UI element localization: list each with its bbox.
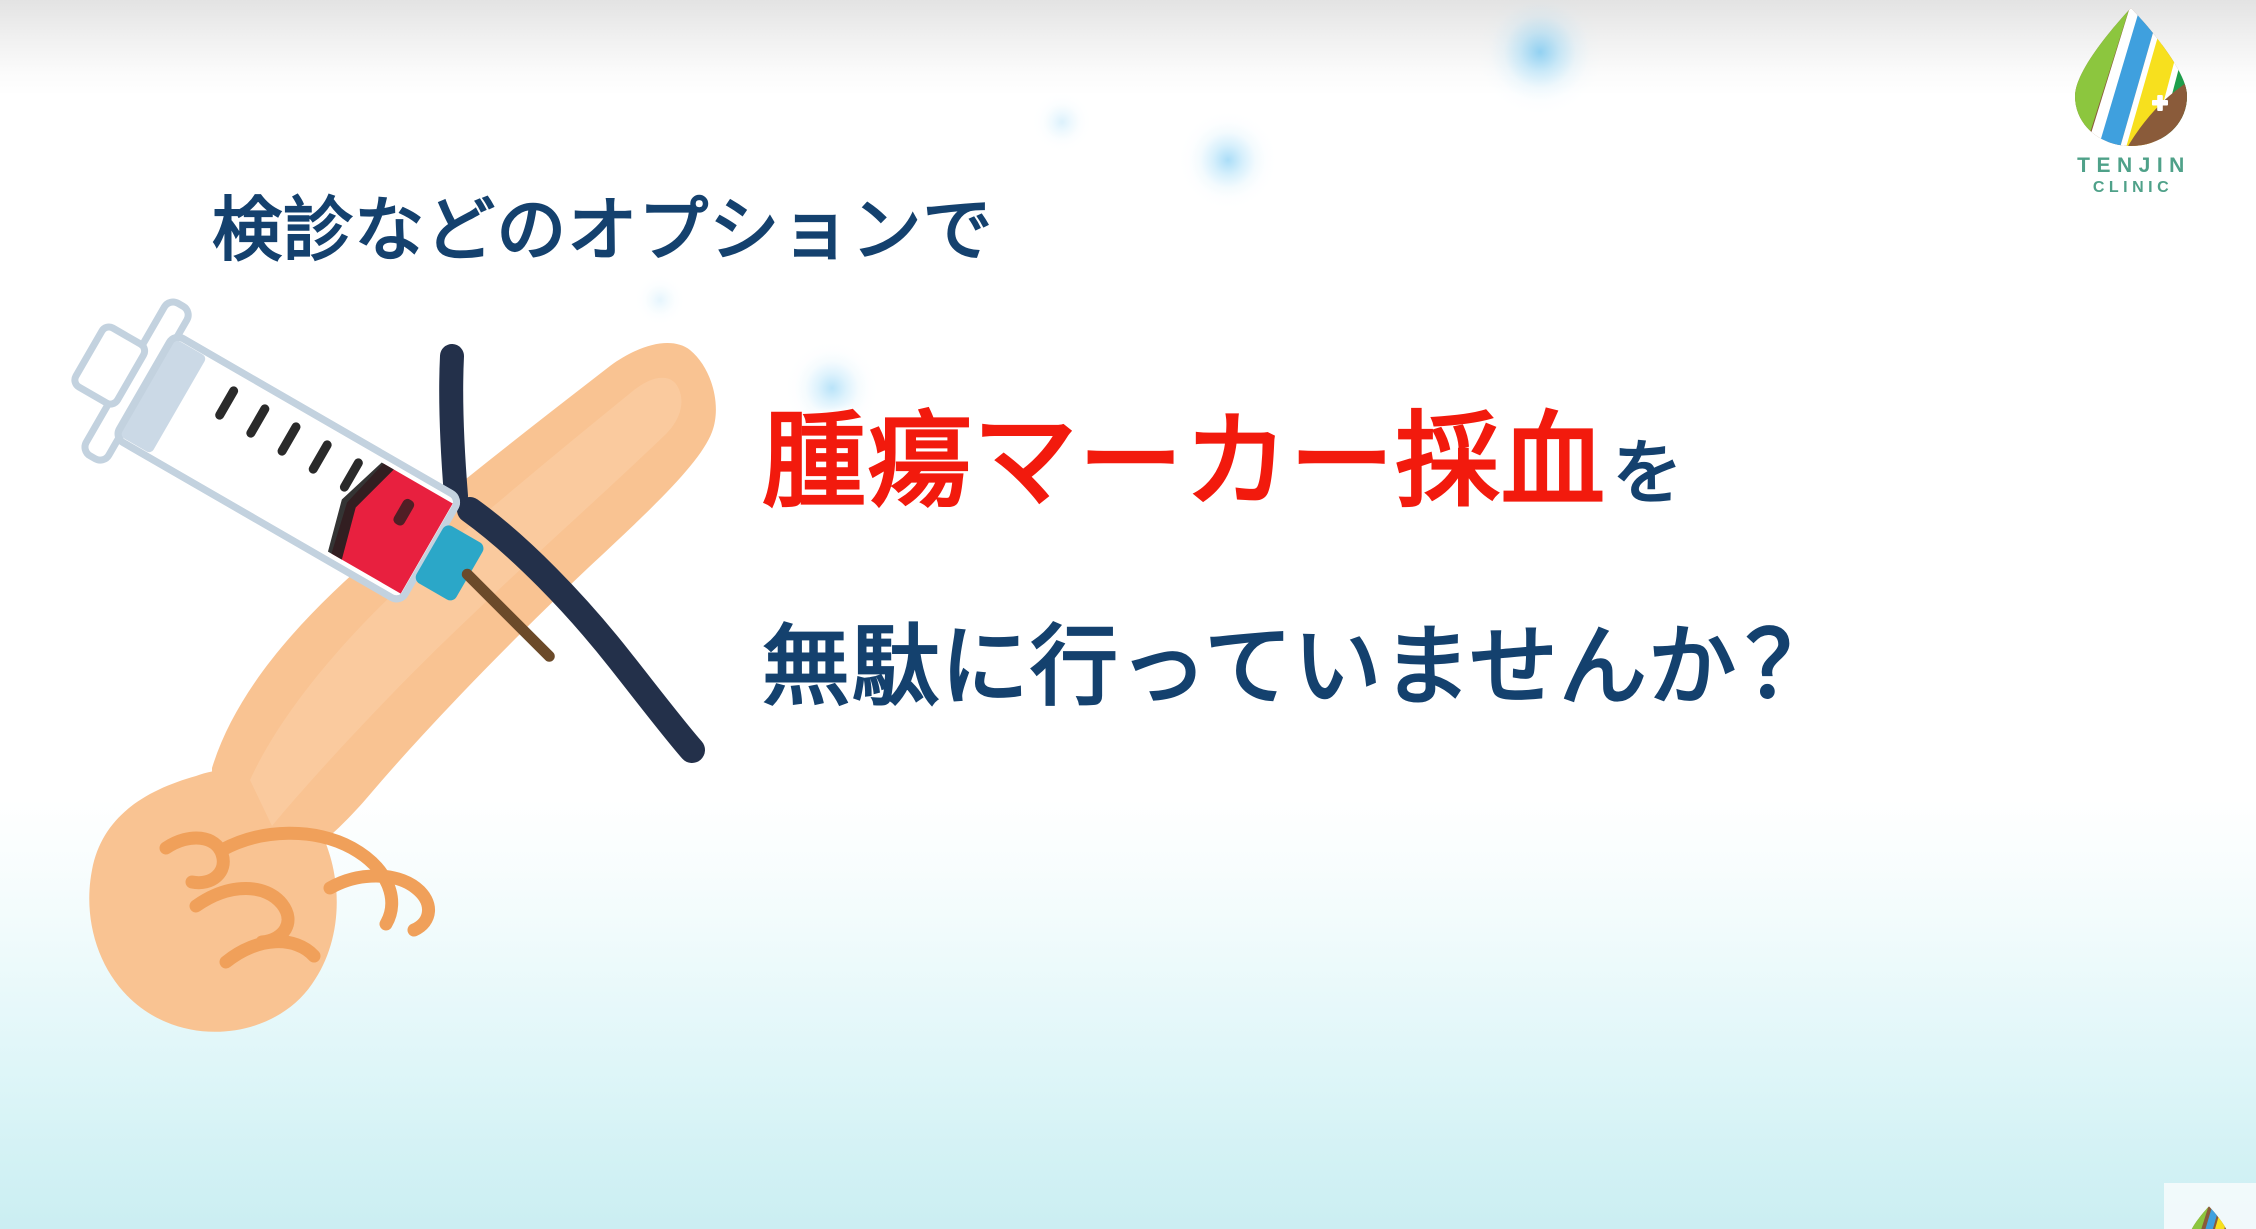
headline-line-1: 検診などのオプションで: [212, 174, 994, 275]
brand-logo: TENJIN CLINIC: [2046, 4, 2216, 214]
headline-line-2: 腫瘍マーカー採血を: [762, 410, 1684, 514]
headline-particle-wo: を: [1612, 434, 1684, 512]
headline-keyword-red: 腫瘍マーカー採血: [762, 404, 1606, 520]
headline-line-3-text: 無駄に行っていませんか: [762, 617, 1737, 716]
background-top-shade: [0, 0, 2256, 96]
tenjin-droplet-icon: [2067, 4, 2195, 150]
corner-droplet-icon: [2186, 1205, 2232, 1229]
corner-logo-stub: [2164, 1183, 2256, 1229]
slide-canvas: 検診などのオプションで 腫瘍マーカー採血を 無駄に行っていませんか？: [0, 0, 2256, 1229]
logo-brand-subtitle: CLINIC: [2046, 180, 2216, 196]
logo-brand-name: TENJIN: [2046, 155, 2216, 176]
question-mark: ？: [1745, 615, 1838, 717]
headline-line-3: 無駄に行っていませんか？: [762, 620, 1839, 712]
